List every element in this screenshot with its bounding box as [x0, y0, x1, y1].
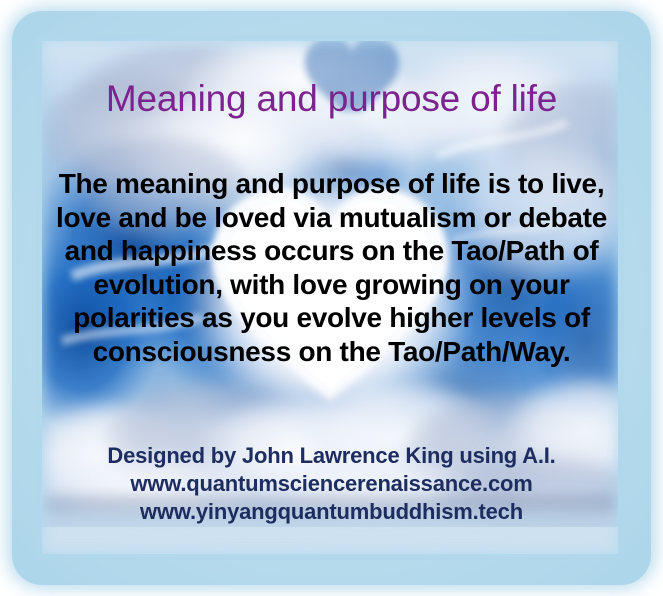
website-link-primary[interactable]: www.quantumsciencerenaissance.com [52, 470, 611, 498]
website-link-secondary[interactable]: www.yinyangquantumbuddhism.tech [52, 498, 611, 526]
poster-text-layer: Meaning and purpose of life The meaning … [0, 0, 663, 596]
footer-credits: Designed by John Lawrence King using A.I… [52, 442, 611, 526]
page-title: Meaning and purpose of life [0, 80, 663, 119]
poster-page: Meaning and purpose of life The meaning … [0, 0, 663, 596]
designer-credit: Designed by John Lawrence King using A.I… [52, 442, 611, 470]
body-paragraph: The meaning and purpose of life is to li… [52, 167, 611, 368]
